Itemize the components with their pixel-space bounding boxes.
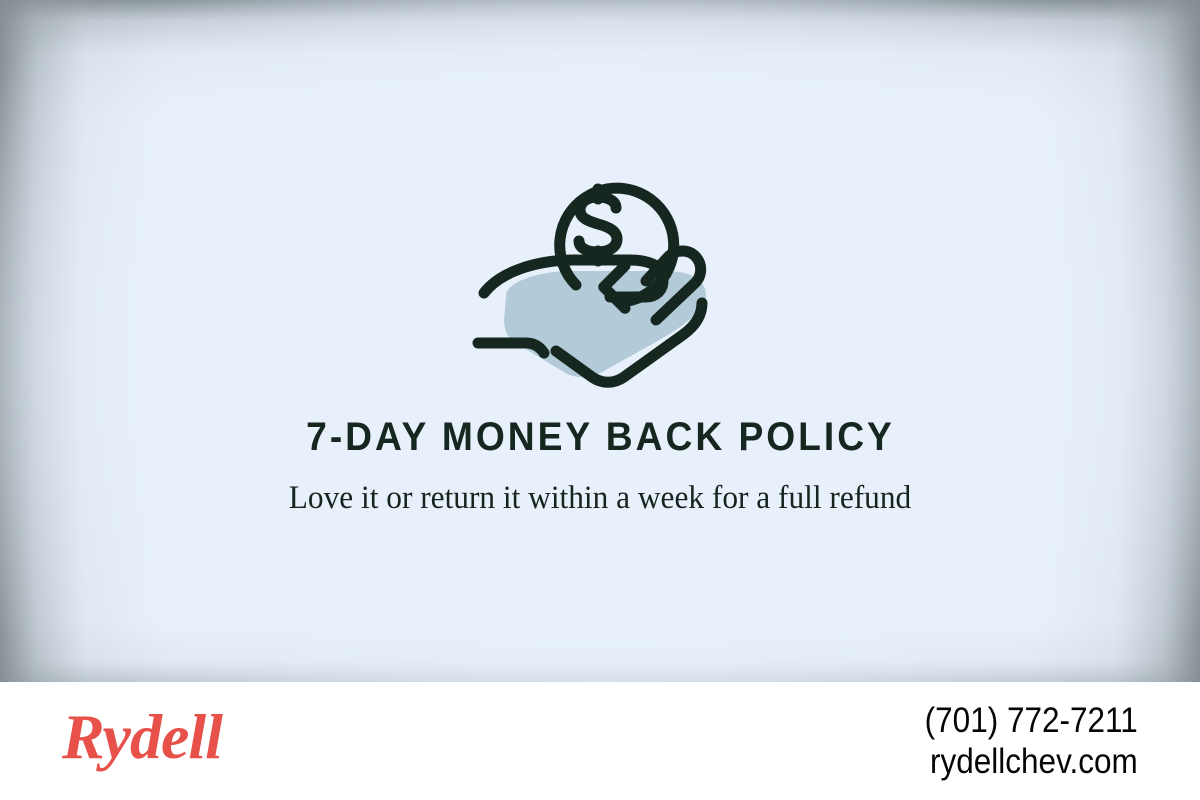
money-back-hand-icon [470,150,730,395]
rydell-logo[interactable]: Rydell [62,705,222,769]
dollar-sign [579,189,617,261]
contact-block: (701) 772-7211 rydellchev.com [925,700,1138,783]
phone-number[interactable]: (701) 772-7211 [925,700,1138,741]
footer-bar: Rydell (701) 772-7211 rydellchev.com [0,682,1200,800]
hero-section: 7-Day Money Back Policy Love it or retur… [0,0,1200,682]
page-title: 7-Day Money Back Policy [306,417,895,457]
website-url[interactable]: rydellchev.com [925,741,1138,782]
hero-content: 7-Day Money Back Policy Love it or retur… [0,0,1200,682]
promo-card: 7-Day Money Back Policy Love it or retur… [0,0,1200,800]
subtitle: Love it or return it within a week for a… [268,477,933,519]
